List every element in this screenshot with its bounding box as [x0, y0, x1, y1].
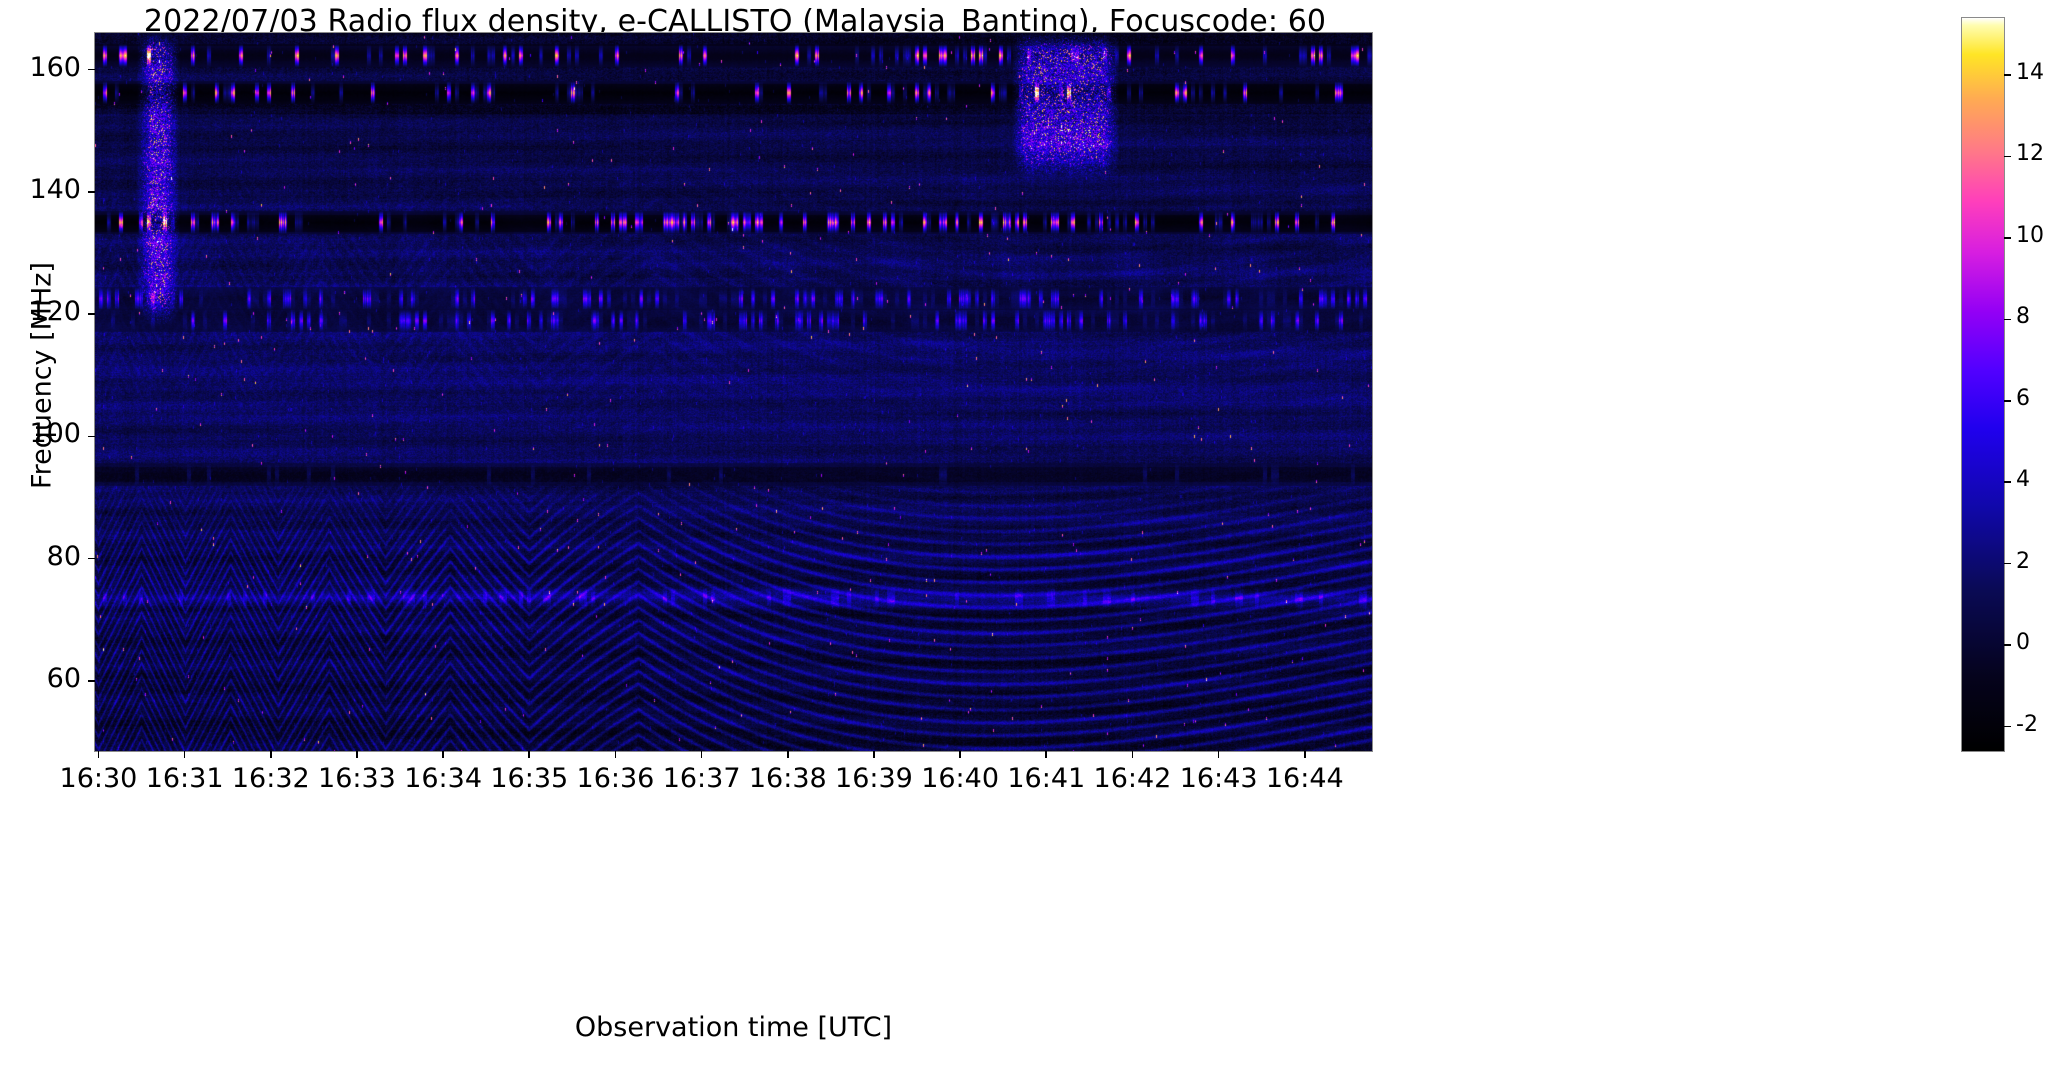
x-tick-mark: [270, 751, 272, 758]
colorbar-tick-mark: [2004, 319, 2011, 321]
y-tick-mark: [88, 69, 95, 71]
y-tick-mark: [88, 313, 95, 315]
x-tick-mark: [1218, 751, 1220, 758]
colorbar-tick-label: 8: [2016, 304, 2066, 329]
colorbar[interactable]: [1962, 18, 2004, 751]
x-tick-mark: [98, 751, 100, 758]
y-tick-mark: [88, 680, 95, 682]
colorbar-tick-label: 14: [2016, 60, 2066, 85]
x-tick-mark: [184, 751, 186, 758]
colorbar-tick-mark: [2004, 237, 2011, 239]
y-tick-mark: [88, 191, 95, 193]
colorbar-tick-mark: [2004, 74, 2011, 76]
y-tick-label: 60: [9, 663, 81, 694]
x-tick-mark: [959, 751, 961, 758]
x-tick-mark: [1045, 751, 1047, 758]
y-tick-label: 80: [9, 541, 81, 572]
colorbar-tick-label: 0: [2016, 630, 2066, 655]
colorbar-tick-mark: [2004, 563, 2011, 565]
x-axis-label: Observation time [UTC]: [95, 1012, 1372, 1043]
x-tick-mark: [528, 751, 530, 758]
spectrogram-image: [95, 33, 1372, 751]
x-tick-mark: [356, 751, 358, 758]
colorbar-tick-mark: [2004, 644, 2011, 646]
y-tick-mark: [88, 436, 95, 438]
x-tick-mark: [615, 751, 617, 758]
x-tick-label: 16:44: [1230, 763, 1380, 794]
colorbar-tick-label: -2: [2016, 712, 2066, 737]
y-axis-label: Frequency [MHz]: [27, 16, 58, 736]
colorbar-tick-mark: [2004, 156, 2011, 158]
x-tick-mark: [701, 751, 703, 758]
x-tick-mark: [442, 751, 444, 758]
colorbar-tick-label: 4: [2016, 467, 2066, 492]
y-tick-mark: [88, 558, 95, 560]
colorbar-tick-label: 6: [2016, 386, 2066, 411]
colorbar-tick-mark: [2004, 481, 2011, 483]
spectrogram-axes[interactable]: [95, 33, 1372, 751]
x-tick-mark: [787, 751, 789, 758]
figure-root: 2022/07/03 Radio flux density, e-CALLIST…: [0, 0, 2066, 1067]
colorbar-gradient: [1962, 18, 2004, 751]
x-tick-mark: [1132, 751, 1134, 758]
colorbar-tick-label: 10: [2016, 223, 2066, 248]
colorbar-tick-label: 12: [2016, 141, 2066, 166]
colorbar-tick-mark: [2004, 400, 2011, 402]
x-tick-mark: [1304, 751, 1306, 758]
y-tick-label: 120: [9, 296, 81, 327]
colorbar-tick-label: 2: [2016, 549, 2066, 574]
x-tick-mark: [873, 751, 875, 758]
y-tick-label: 100: [9, 418, 81, 449]
colorbar-tick-mark: [2004, 726, 2011, 728]
y-tick-label: 160: [9, 52, 81, 83]
y-tick-label: 140: [9, 174, 81, 205]
